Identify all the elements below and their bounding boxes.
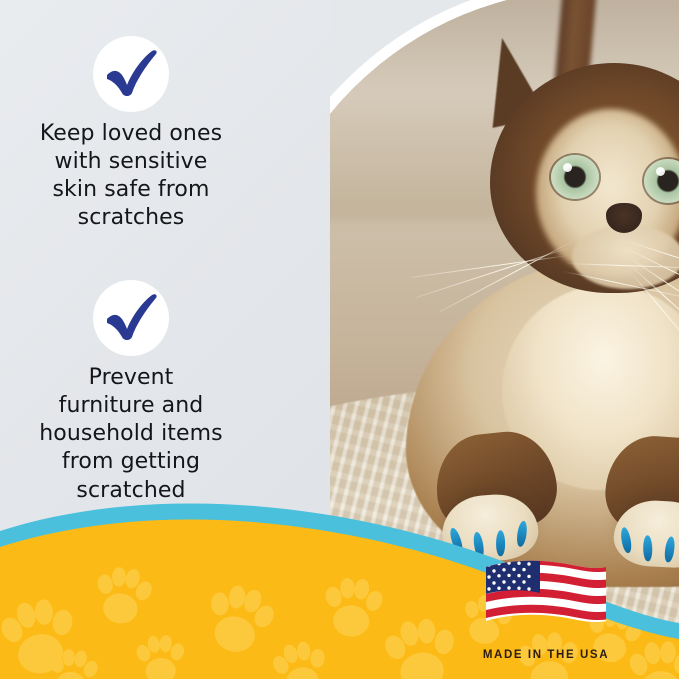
benefit-item-1: Keep loved ones with sensitive skin safe…	[0, 36, 262, 233]
product-infographic: Keep loved ones with sensitive skin safe…	[0, 0, 679, 679]
made-in-usa-label: MADE IN THE USA	[466, 649, 626, 661]
check-icon	[93, 280, 169, 356]
usa-flag-icon	[482, 557, 610, 637]
cat-whiskers	[454, 189, 679, 359]
benefit-text-1: Keep loved ones with sensitive skin safe…	[0, 120, 262, 233]
made-in-usa-badge: MADE IN THE USA	[466, 557, 626, 661]
benefit-item-2: Prevent furniture and household items fr…	[0, 280, 262, 505]
benefit-text-2: Prevent furniture and household items fr…	[0, 364, 262, 505]
check-icon	[93, 36, 169, 112]
